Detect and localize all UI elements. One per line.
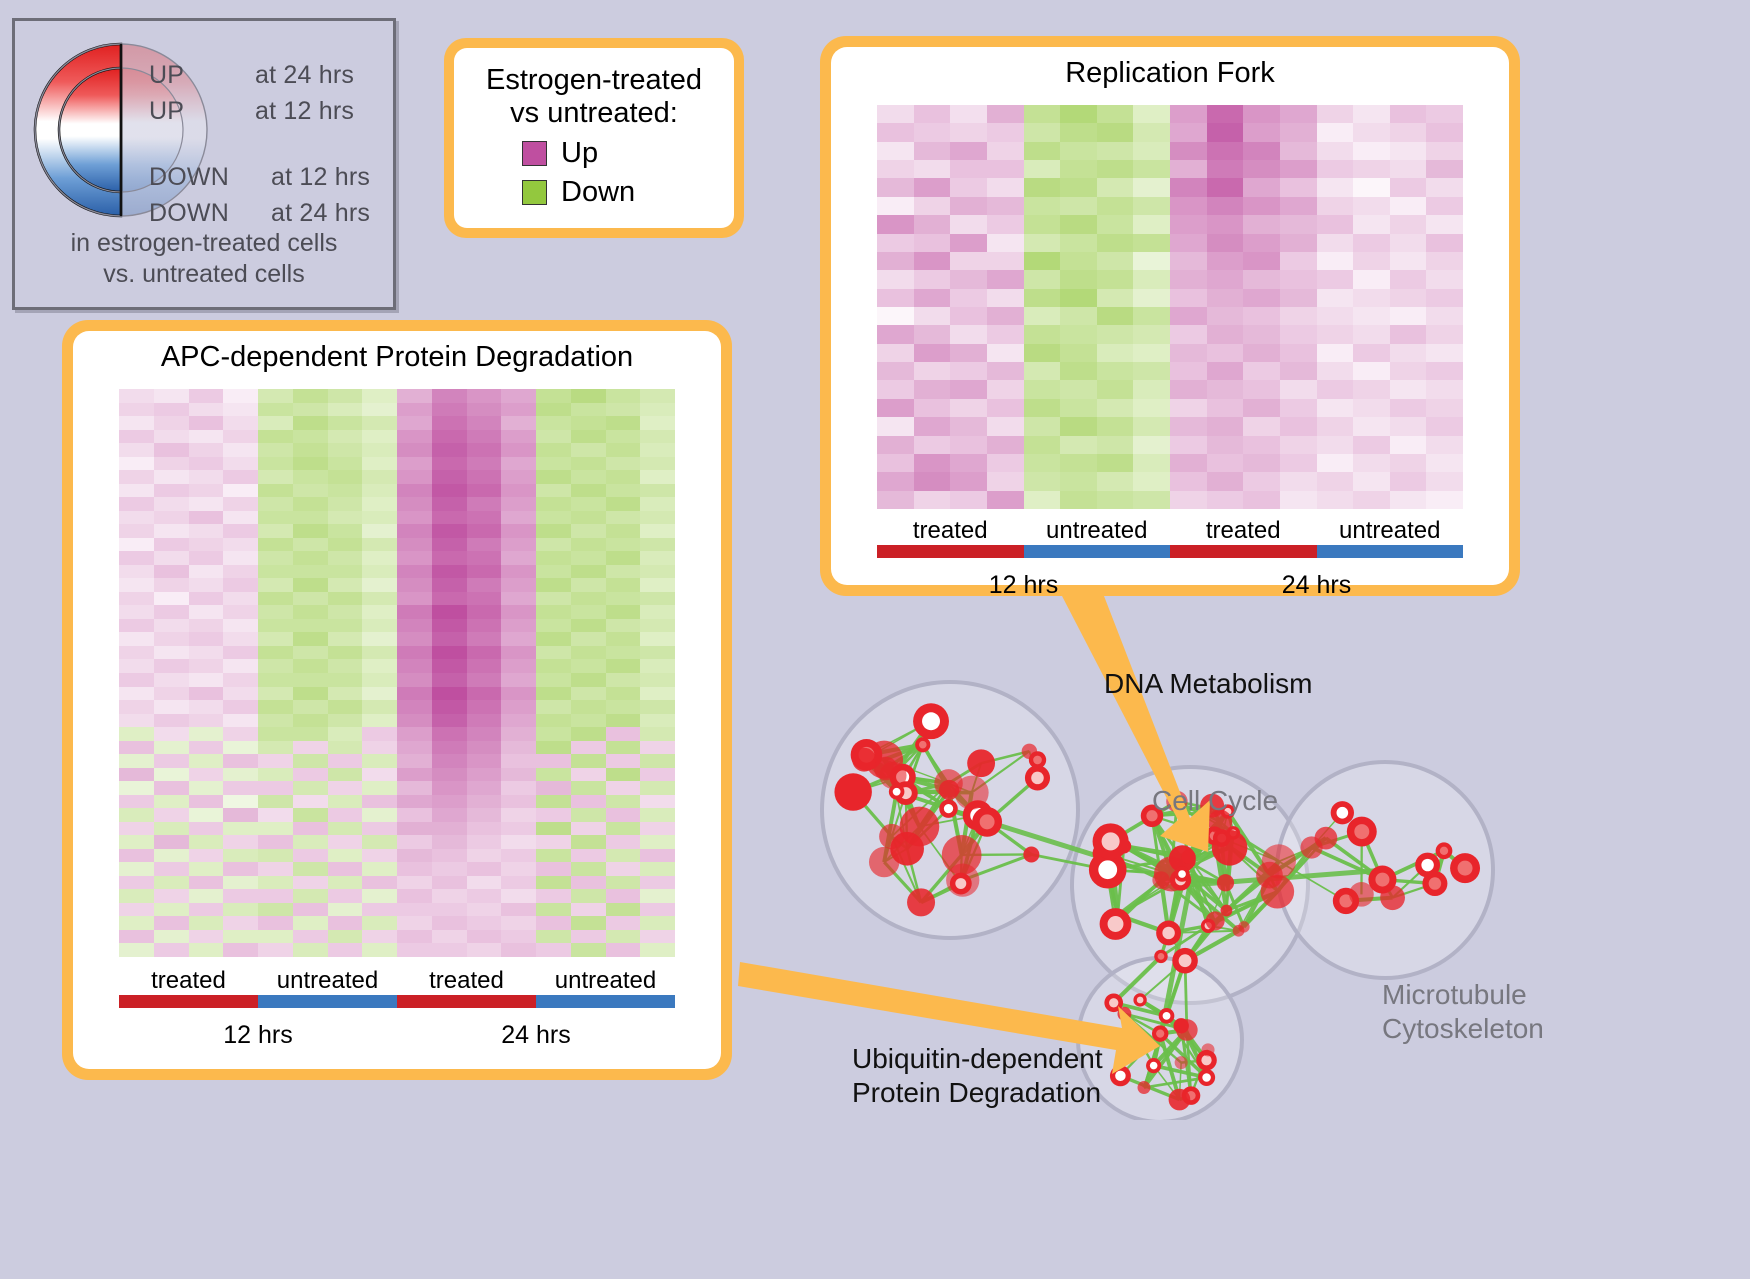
heatmap-cell [1317, 307, 1354, 325]
heatmap-cell [223, 727, 258, 741]
heatmap-cell [432, 768, 467, 782]
heatmap-cell [606, 551, 641, 565]
heatmap-cell [328, 781, 363, 795]
network-node [1023, 846, 1039, 862]
heatmap-cell [1170, 472, 1207, 490]
heatmap-cell [1353, 178, 1390, 196]
heatmap-cell [362, 808, 397, 822]
heatmap-cell [536, 943, 571, 957]
heatmap-cell [362, 646, 397, 660]
heatmap-cell [467, 673, 502, 687]
heatmap-cell [328, 862, 363, 876]
heatmap-cell [1353, 491, 1390, 509]
heatmap-cell [328, 659, 363, 673]
heatmap-cell [432, 646, 467, 660]
heatmap-cell [1207, 105, 1244, 123]
heatmap-cell [154, 687, 189, 701]
network-node [1206, 911, 1225, 930]
colorwheel-caption-line2: vs. untreated cells [15, 259, 393, 290]
heatmap-cell [223, 768, 258, 782]
heatmap-cell [293, 470, 328, 484]
heatmap-cell [571, 768, 606, 782]
heatmap-cell [467, 632, 502, 646]
heatmap-cell [571, 389, 606, 403]
heatmap-cell [154, 835, 189, 849]
heatmap-cell [1353, 197, 1390, 215]
heatmap-cell [258, 511, 293, 525]
heatmap-cell [606, 632, 641, 646]
heatmap-cell [258, 700, 293, 714]
heatmap-cell [397, 687, 432, 701]
heatmap-cell [467, 754, 502, 768]
heatmap-cell [501, 930, 536, 944]
heatmap-cell [397, 741, 432, 755]
heatmap-cell [154, 727, 189, 741]
heatmap-cell [1024, 325, 1061, 343]
heatmap-cell [1280, 472, 1317, 490]
heatmap-cell [293, 903, 328, 917]
heatmap-cell [1133, 472, 1170, 490]
heatmap-cell [1207, 270, 1244, 288]
heatmap-cell [189, 795, 224, 809]
heatmap-cell [119, 565, 154, 579]
heatmap-cell [536, 497, 571, 511]
heatmap-cell [1426, 380, 1463, 398]
heatmap-cell [536, 903, 571, 917]
heatmap-cell [640, 876, 675, 890]
network-node [1175, 1056, 1188, 1069]
heatmap-cell [1317, 344, 1354, 362]
heatmap-cell [606, 497, 641, 511]
heatmap-cell [501, 889, 536, 903]
heatmap-cell [571, 754, 606, 768]
heatmap-cell [293, 605, 328, 619]
heatmap-cell [293, 673, 328, 687]
heatmap-cell [640, 389, 675, 403]
heatmap-cell [1280, 105, 1317, 123]
heatmap-cell [1353, 160, 1390, 178]
network-node [852, 748, 876, 772]
heatmap-cell [258, 457, 293, 471]
heatmap-cell [1097, 234, 1134, 252]
heatmap-cell [293, 484, 328, 498]
heatmap-cell [877, 399, 914, 417]
heatmap-cell [432, 443, 467, 457]
heatmap-cell [987, 178, 1024, 196]
heatmap-cell [1024, 417, 1061, 435]
heatmap-cell [362, 538, 397, 552]
heatmap-cell [536, 551, 571, 565]
heatmap-cell [1024, 252, 1061, 270]
heatmap-cell [258, 632, 293, 646]
heatmap-cell [606, 457, 641, 471]
apc-title: APC-dependent Protein Degradation [73, 331, 721, 374]
heatmap-cell [293, 727, 328, 741]
heatmap-cell [189, 430, 224, 444]
heatmap-cell [328, 497, 363, 511]
heatmap-cell [1317, 123, 1354, 141]
heatmap-cell [1133, 289, 1170, 307]
heatmap-cell [1207, 491, 1244, 509]
heatmap-cell [1280, 160, 1317, 178]
heatmap-cell [950, 491, 987, 509]
heatmap-cell [328, 619, 363, 633]
heatmap-cell [1170, 105, 1207, 123]
heatmap-cell [1024, 491, 1061, 509]
heatmap-cell [950, 123, 987, 141]
heatmap-cell [606, 416, 641, 430]
heatmap-cell [119, 538, 154, 552]
heatmap-cell [606, 741, 641, 755]
heatmap-cell [189, 741, 224, 755]
heatmap-cell [640, 659, 675, 673]
heatmap-cell [1280, 454, 1317, 472]
heatmap-cell [189, 470, 224, 484]
heatmap-cell [1060, 178, 1097, 196]
network-node-core [1156, 1029, 1164, 1037]
heatmap-cell [1353, 234, 1390, 252]
heatmap-cell [1280, 362, 1317, 380]
heatmap-cell [640, 551, 675, 565]
group-bar-segment [258, 995, 397, 1008]
heatmap-cell [154, 930, 189, 944]
heatmap-cell [536, 727, 571, 741]
heatmap-cell [467, 578, 502, 592]
heatmap-cell [362, 943, 397, 957]
heatmap-cell [223, 849, 258, 863]
heatmap-cell [1390, 472, 1427, 490]
heatmap-cell [1207, 160, 1244, 178]
heatmap-cell [571, 795, 606, 809]
heatmap-cell [1097, 215, 1134, 233]
heatmap-cell [293, 808, 328, 822]
heatmap-cell [987, 491, 1024, 509]
network-node [1152, 871, 1170, 889]
heatmap-cell [1207, 417, 1244, 435]
heatmap-cell [362, 511, 397, 525]
heatmap-cell [501, 687, 536, 701]
updown-legend-title: Estrogen-treated vs untreated: [464, 64, 724, 131]
heatmap-cell [467, 849, 502, 863]
heatmap-cell [950, 178, 987, 196]
heatmap-cell [328, 430, 363, 444]
heatmap-cell [640, 687, 675, 701]
heatmap-cell [328, 389, 363, 403]
heatmap-cell [293, 943, 328, 957]
heatmap-cell [467, 741, 502, 755]
heatmap-cell [987, 123, 1024, 141]
heatmap-cell [1353, 325, 1390, 343]
heatmap-cell [154, 889, 189, 903]
heatmap-cell [877, 325, 914, 343]
heatmap-cell [467, 551, 502, 565]
heatmap-cell [1317, 472, 1354, 490]
heatmap-cell [501, 835, 536, 849]
heatmap-cell [189, 822, 224, 836]
heatmap-cell [467, 700, 502, 714]
heatmap-cell [501, 862, 536, 876]
heatmap-cell [258, 565, 293, 579]
heatmap-cell [501, 551, 536, 565]
heatmap-cell [1317, 289, 1354, 307]
heatmap-cell [189, 551, 224, 565]
heatmap-cell [119, 619, 154, 633]
heatmap-cell [606, 592, 641, 606]
updown-legend-title-line1: Estrogen-treated [464, 64, 724, 97]
heatmap-cell [258, 646, 293, 660]
heatmap-cell [1133, 215, 1170, 233]
heatmap-cell [189, 768, 224, 782]
heatmap-cell [877, 234, 914, 252]
heatmap-cell [1097, 289, 1134, 307]
heatmap-cell [536, 389, 571, 403]
network-node-core [1202, 1073, 1211, 1082]
heatmap-cell [1097, 399, 1134, 417]
heatmap-cell [640, 822, 675, 836]
heatmap-cell [950, 289, 987, 307]
heatmap-cell [1426, 160, 1463, 178]
heatmap-cell [571, 849, 606, 863]
updown-legend-box: Estrogen-treated vs untreated: Up Down [444, 38, 744, 238]
heatmap-cell [467, 835, 502, 849]
heatmap-cell [1426, 234, 1463, 252]
heatmap-cell [877, 380, 914, 398]
heatmap-cell [223, 605, 258, 619]
heatmap-cell [1317, 178, 1354, 196]
heatmap-cell [1353, 362, 1390, 380]
heatmap-cell [293, 565, 328, 579]
heatmap-cell [536, 835, 571, 849]
apc-time-bar [119, 1012, 675, 1021]
heatmap-cell [1426, 289, 1463, 307]
network-node [1262, 844, 1296, 878]
network-node-core [1179, 954, 1192, 967]
heatmap-cell [1133, 325, 1170, 343]
heatmap-cell [432, 484, 467, 498]
heatmap-cell [397, 619, 432, 633]
heatmap-cell [1243, 344, 1280, 362]
legend-item-down: Down [522, 176, 724, 209]
heatmap-cell [1097, 417, 1134, 435]
heatmap-cell [223, 781, 258, 795]
heatmap-cell [258, 416, 293, 430]
heatmap-cell [1426, 436, 1463, 454]
heatmap-cell [362, 443, 397, 457]
heatmap-cell [877, 270, 914, 288]
heatmap-cell [293, 889, 328, 903]
heatmap-cell [432, 524, 467, 538]
panel-apc-dependent-protein-degradation: APC-dependent Protein Degradation treate… [62, 320, 732, 1080]
heatmap-cell [571, 916, 606, 930]
heatmap-cell [1353, 289, 1390, 307]
heatmap-cell [154, 578, 189, 592]
heatmap-cell [258, 619, 293, 633]
heatmap-cell [467, 943, 502, 957]
heatmap-cell [258, 714, 293, 728]
heatmap-cell [258, 578, 293, 592]
heatmap-cell [1060, 289, 1097, 307]
heatmap-cell [501, 943, 536, 957]
heatmap-cell [223, 795, 258, 809]
time-label-12hrs: 12 hrs [119, 1021, 397, 1050]
heatmap-cell [640, 416, 675, 430]
heatmap-cell [328, 822, 363, 836]
heatmap-cell [501, 416, 536, 430]
heatmap-cell [1133, 123, 1170, 141]
heatmap-cell [914, 417, 951, 435]
heatmap-cell [154, 768, 189, 782]
network-node-core [1375, 873, 1389, 887]
heatmap-cell [606, 659, 641, 673]
heatmap-cell [397, 592, 432, 606]
network-node-core [1440, 847, 1448, 855]
heatmap-cell [877, 344, 914, 362]
heatmap-cell [467, 416, 502, 430]
apc-group-labels: treated untreated treated untreated [119, 967, 675, 995]
group-bar-segment [119, 995, 258, 1008]
heatmap-cell [119, 632, 154, 646]
heatmap-cell [189, 497, 224, 511]
heatmap-cell [397, 673, 432, 687]
heatmap-cell [1317, 325, 1354, 343]
heatmap-cell [258, 889, 293, 903]
heatmap-cell [1207, 234, 1244, 252]
heatmap-cell [328, 457, 363, 471]
heatmap-cell [877, 197, 914, 215]
heatmap-cell [189, 727, 224, 741]
heatmap-cell [606, 889, 641, 903]
heatmap-cell [536, 768, 571, 782]
heatmap-cell [1097, 307, 1134, 325]
heatmap-cell [328, 808, 363, 822]
heatmap-cell [1353, 252, 1390, 270]
heatmap-cell [119, 659, 154, 673]
heatmap-cell [189, 835, 224, 849]
heatmap-cell [362, 700, 397, 714]
heatmap-cell [1133, 362, 1170, 380]
heatmap-cell [397, 781, 432, 795]
heatmap-cell [1426, 344, 1463, 362]
heatmap-cell [877, 289, 914, 307]
heatmap-cell [397, 876, 432, 890]
heatmap-cell [571, 457, 606, 471]
heatmap-cell [362, 470, 397, 484]
heatmap-cell [536, 605, 571, 619]
network-node [1182, 850, 1196, 864]
heatmap-cell [397, 457, 432, 471]
heatmap-cell [1060, 436, 1097, 454]
heatmap-cell [1390, 215, 1427, 233]
heatmap-cell [536, 430, 571, 444]
heatmap-cell [467, 565, 502, 579]
heatmap-cell [606, 470, 641, 484]
heatmap-cell [501, 876, 536, 890]
heatmap-cell [154, 808, 189, 822]
heatmap-cell [293, 781, 328, 795]
heatmap-cell [293, 443, 328, 457]
heatmap-cell [397, 578, 432, 592]
heatmap-cell [1426, 454, 1463, 472]
heatmap-cell [328, 592, 363, 606]
heatmap-cell [1390, 417, 1427, 435]
heatmap-cell [293, 619, 328, 633]
heatmap-cell [432, 511, 467, 525]
heatmap-cell [1170, 197, 1207, 215]
legend-time-up-12: at 12 hrs [255, 97, 354, 126]
heatmap-cell [189, 416, 224, 430]
heatmap-cell [914, 472, 951, 490]
heatmap-cell [1243, 380, 1280, 398]
heatmap-cell [223, 592, 258, 606]
heatmap-cell [914, 270, 951, 288]
heatmap-cell [536, 849, 571, 863]
heatmap-cell [189, 646, 224, 660]
heatmap-cell [189, 673, 224, 687]
heatmap-cell [154, 673, 189, 687]
heatmap-cell [467, 538, 502, 552]
heatmap-cell [189, 916, 224, 930]
heatmap-cell [362, 889, 397, 903]
heatmap-cell [432, 700, 467, 714]
heatmap-cell [536, 592, 571, 606]
heatmap-cell [950, 325, 987, 343]
heatmap-cell [640, 524, 675, 538]
heatmap-cell [1353, 270, 1390, 288]
heatmap-cell [914, 142, 951, 160]
heatmap-cell [571, 538, 606, 552]
heatmap-cell [432, 903, 467, 917]
replication-fork-group-bar [877, 545, 1463, 558]
heatmap-cell [223, 646, 258, 660]
heatmap-cell [119, 822, 154, 836]
heatmap-cell [328, 632, 363, 646]
heatmap-cell [397, 808, 432, 822]
heatmap-cell [362, 524, 397, 538]
heatmap-cell [1317, 399, 1354, 417]
heatmap-cell [536, 403, 571, 417]
heatmap-cell [397, 416, 432, 430]
heatmap-cell [1133, 380, 1170, 398]
heatmap-cell [606, 795, 641, 809]
heatmap-cell [571, 403, 606, 417]
heatmap-cell [223, 403, 258, 417]
heatmap-cell [606, 565, 641, 579]
heatmap-cell [467, 781, 502, 795]
heatmap-cell [119, 457, 154, 471]
heatmap-cell [1207, 252, 1244, 270]
heatmap-cell [1353, 472, 1390, 490]
heatmap-cell [397, 403, 432, 417]
heatmap-cell [362, 930, 397, 944]
updown-legend-title-line2: vs untreated: [464, 97, 724, 130]
heatmap-cell [223, 714, 258, 728]
network-node-core [1337, 807, 1349, 819]
heatmap-cell [640, 754, 675, 768]
heatmap-cell [258, 808, 293, 822]
heatmap-cell [1024, 160, 1061, 178]
heatmap-cell [1280, 215, 1317, 233]
heatmap-cell [362, 578, 397, 592]
heatmap-cell [640, 403, 675, 417]
heatmap-cell [154, 646, 189, 660]
heatmap-cell [362, 903, 397, 917]
network-node-core [1429, 877, 1442, 890]
heatmap-cell [640, 714, 675, 728]
heatmap-cell [571, 930, 606, 944]
heatmap-cell [640, 727, 675, 741]
heatmap-cell [640, 484, 675, 498]
heatmap-cell [501, 619, 536, 633]
